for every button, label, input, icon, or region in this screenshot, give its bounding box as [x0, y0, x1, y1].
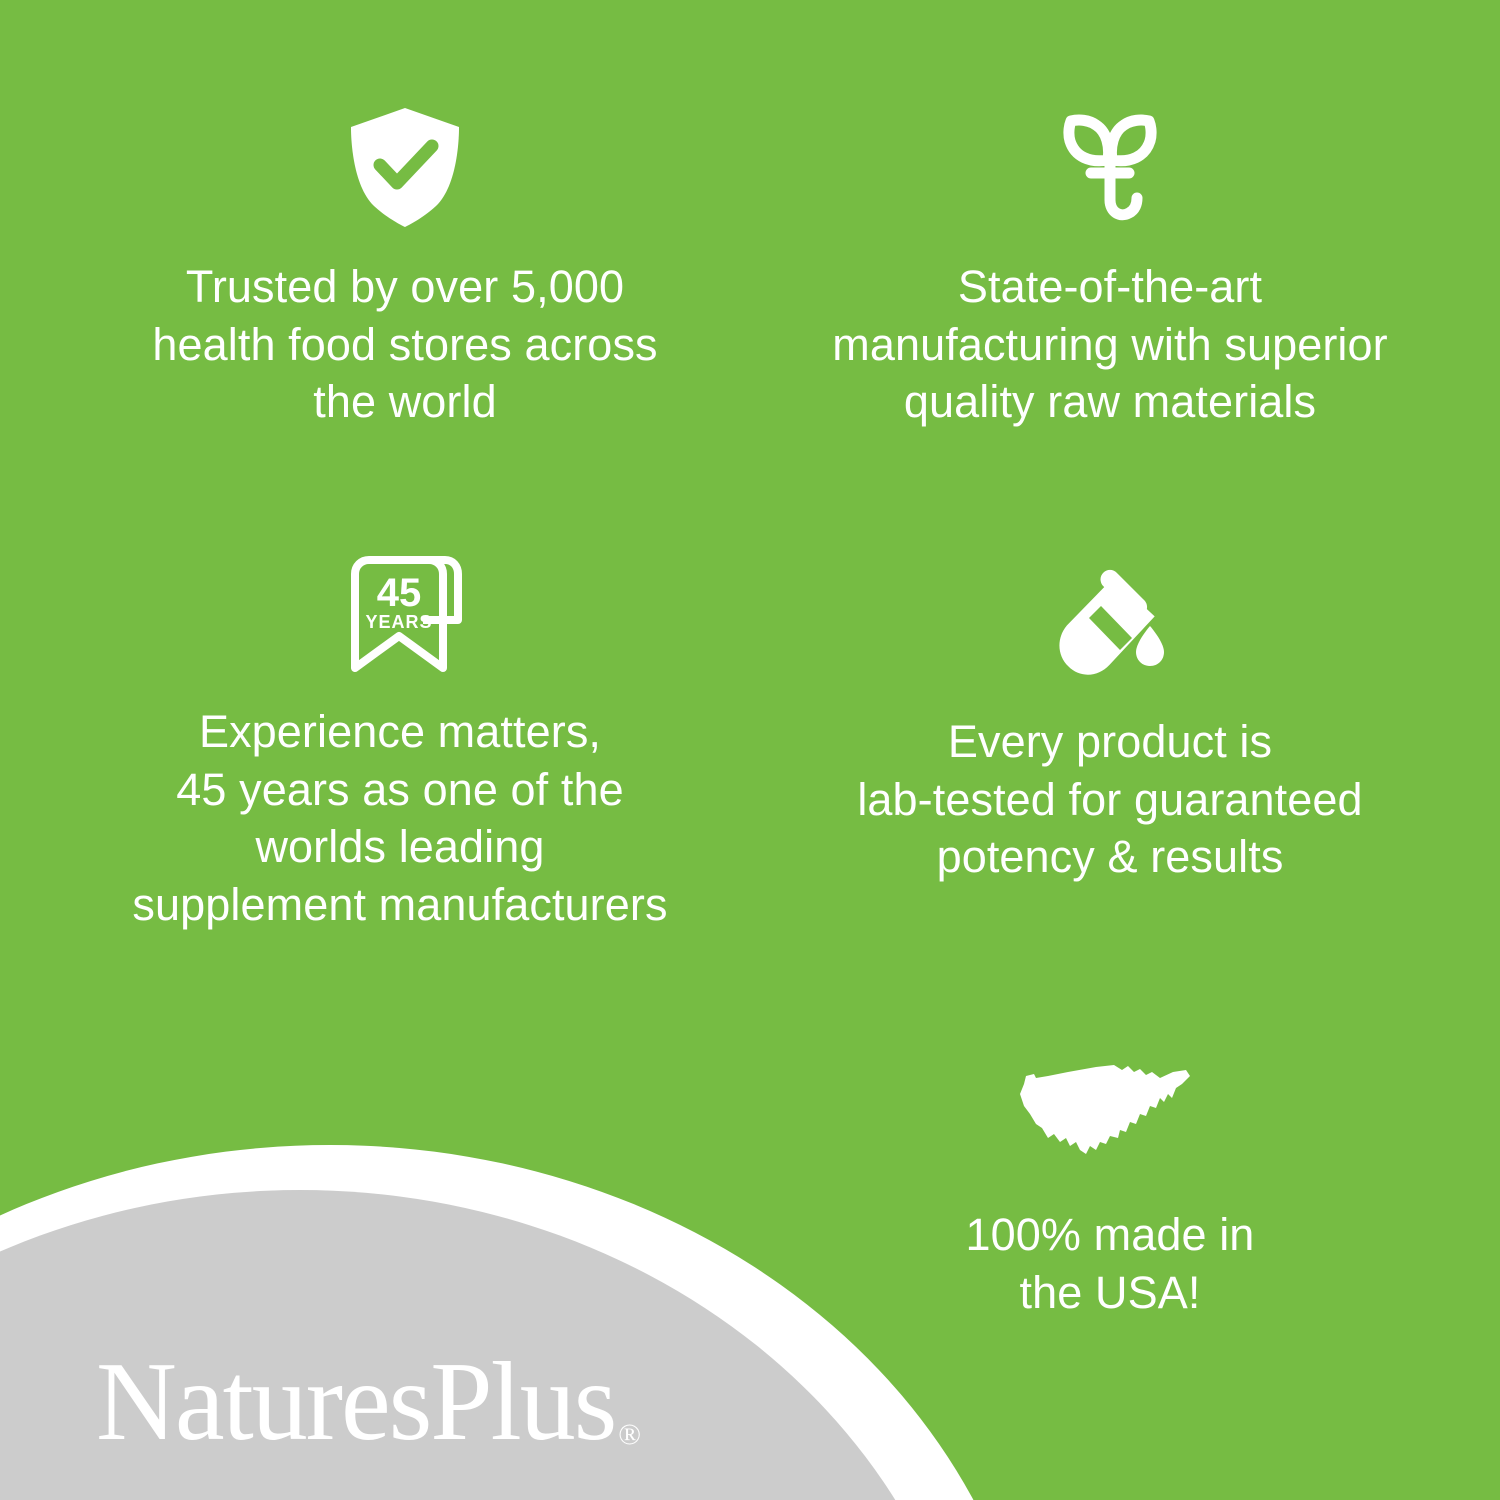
promo-banner: Trusted by over 5,000 health food stores… [0, 0, 1500, 1500]
usa-map-icon [800, 1050, 1420, 1170]
shield-check-icon [55, 105, 755, 230]
feature-caption: Experience matters, 45 years as one of t… [40, 703, 760, 933]
ribbon-label: YEARS [365, 612, 432, 632]
feature-manufacturing: State-of-the-art manufacturing with supe… [760, 105, 1460, 431]
brand-name: NaturesPlus [96, 1346, 615, 1458]
feature-caption: State-of-the-art manufacturing with supe… [760, 258, 1460, 431]
feature-caption: 100% made in the USA! [800, 1206, 1420, 1321]
feature-made-in-usa: 100% made in the USA! [800, 1050, 1420, 1321]
sprout-icon [760, 105, 1460, 230]
feature-experience: 45 YEARS Experience matters, 45 years as… [40, 550, 760, 933]
registered-mark: ® [618, 1418, 641, 1452]
anniversary-ribbon-icon: 45 YEARS [40, 550, 760, 675]
ribbon-number: 45 [376, 571, 421, 615]
brand-logo: NaturesPlus® [96, 1338, 656, 1458]
feature-caption: Trusted by over 5,000 health food stores… [55, 258, 755, 431]
feature-labtested: Every product is lab-tested for guarante… [760, 560, 1460, 886]
feature-trusted: Trusted by over 5,000 health food stores… [55, 105, 755, 431]
test-tube-drop-icon [760, 560, 1460, 685]
feature-caption: Every product is lab-tested for guarante… [760, 713, 1460, 886]
feature-grid: Trusted by over 5,000 health food stores… [0, 0, 1500, 1500]
